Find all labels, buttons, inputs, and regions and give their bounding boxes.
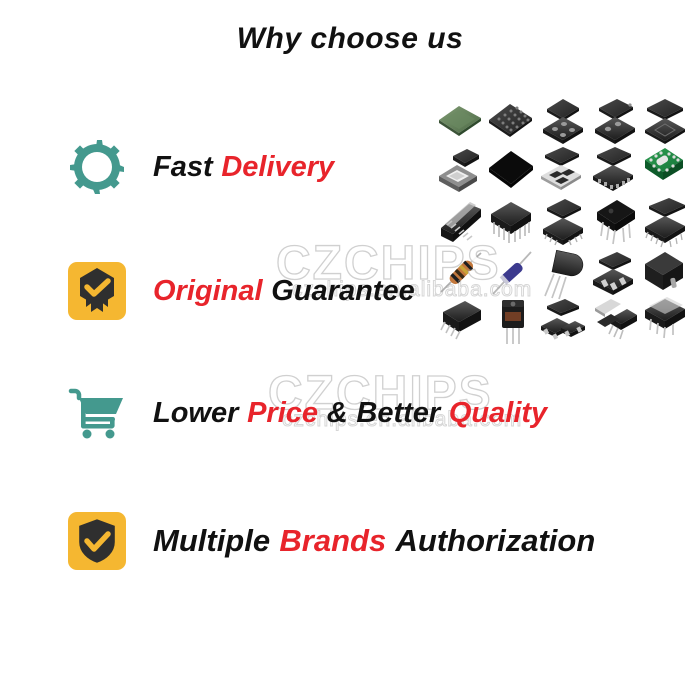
feature-headline-original-guarantee: OriginalGuarantee xyxy=(153,275,415,308)
badge-check-icon-svg xyxy=(68,262,126,320)
chip-dip-dual-inline-package xyxy=(491,202,531,243)
shield-check-icon xyxy=(66,510,128,572)
chip-dip-8-optocoupler xyxy=(597,200,635,244)
chip-bga-ball-grid-array xyxy=(489,104,532,137)
feature-row-lower-price: LowerPrice&BetterQuality xyxy=(0,382,700,444)
badge-check-icon xyxy=(66,260,128,322)
headline-word: Better xyxy=(356,397,440,429)
shopping-cart-icon xyxy=(66,382,128,444)
headline-word: Original xyxy=(153,275,263,307)
headline-word: Delivery xyxy=(221,151,334,183)
headline-word: & xyxy=(327,397,348,429)
headline-word: Fast xyxy=(153,151,213,183)
gear-icon xyxy=(66,136,128,198)
feature-row-multiple-brands: MultipleBrandsAuthorization xyxy=(0,508,700,574)
chip-bga-substrate-green xyxy=(439,106,481,136)
promo-banner: Why choose us xyxy=(0,0,700,700)
feature-headline-multiple-brands: MultipleBrandsAuthorization xyxy=(153,523,595,559)
headline-word: Lower xyxy=(153,397,238,429)
headline-word: Price xyxy=(247,397,318,429)
shield-check-icon-svg xyxy=(68,512,126,570)
feature-headline-fast-delivery: FastDelivery xyxy=(153,151,334,184)
headline-word: Quality xyxy=(449,397,547,429)
feature-headline-lower-price: LowerPrice&BetterQuality xyxy=(153,397,547,430)
page-title: Why choose us xyxy=(0,22,700,56)
headline-word: Guarantee xyxy=(271,275,414,307)
headline-word: Authorization xyxy=(396,523,596,558)
gear-icon-svg xyxy=(68,138,126,196)
chip-soic-small-outline-ic xyxy=(543,199,583,245)
feature-row-original-guarantee: OriginalGuarantee xyxy=(0,260,700,322)
chip-sip-single-inline-package xyxy=(441,202,481,242)
chip-ssop-shrink-small-outline xyxy=(645,198,685,247)
headline-word: Multiple xyxy=(153,523,270,558)
feature-row-fast-delivery: FastDelivery xyxy=(0,136,700,198)
headline-word: Brands xyxy=(279,523,386,558)
shopping-cart-icon-svg xyxy=(68,384,126,442)
